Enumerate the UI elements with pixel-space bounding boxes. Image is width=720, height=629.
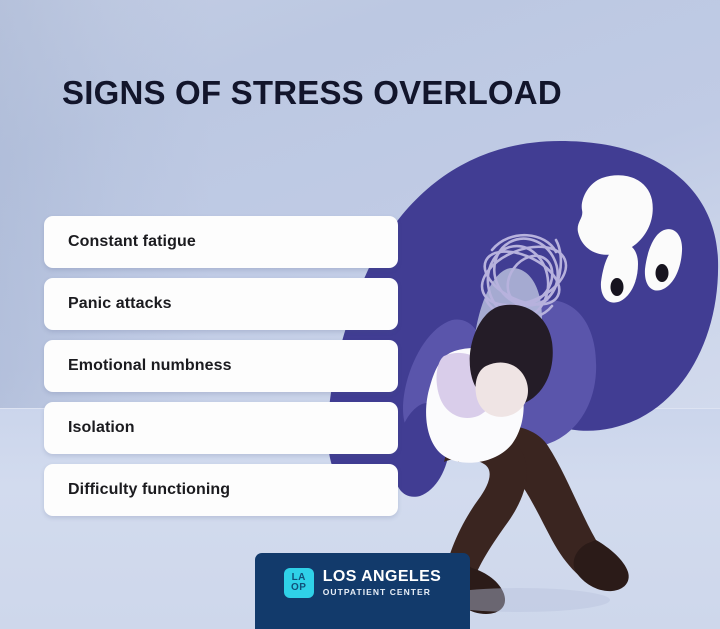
list-item[interactable]: Constant fatigue (44, 216, 398, 268)
list-item[interactable]: Emotional numbness (44, 340, 398, 392)
page-title: SIGNS OF STRESS OVERLOAD (62, 74, 562, 112)
person-forearm (475, 362, 528, 416)
logo-mark-line2: OP (291, 583, 306, 593)
sign-label: Panic attacks (44, 295, 172, 313)
brand-logo[interactable]: LA OP LOS ANGELES OUTPATIENT CENTER (284, 568, 442, 598)
brand-name: LOS ANGELES OUTPATIENT CENTER (323, 569, 442, 597)
sign-label: Difficulty functioning (44, 481, 230, 499)
brand-primary-text: LOS ANGELES (323, 569, 442, 585)
blob-pupil-right (656, 264, 669, 282)
sign-label: Constant fatigue (44, 233, 196, 251)
signs-list: Constant fatigue Panic attacks Emotional… (44, 216, 398, 526)
blob-pupil-left (611, 278, 624, 296)
brand-secondary-text: OUTPATIENT CENTER (323, 588, 442, 597)
stress-overload-infographic: SIGNS OF STRESS OVERLOAD Constant fatigu… (0, 0, 720, 629)
person-shoe-back (574, 540, 629, 591)
sign-label: Emotional numbness (44, 357, 232, 375)
list-item[interactable]: Difficulty functioning (44, 464, 398, 516)
sign-label: Isolation (44, 419, 135, 437)
list-item[interactable]: Panic attacks (44, 278, 398, 330)
footer-logo-bar: LA OP LOS ANGELES OUTPATIENT CENTER (255, 553, 470, 629)
laop-monogram-icon: LA OP (284, 568, 314, 598)
list-item[interactable]: Isolation (44, 402, 398, 454)
